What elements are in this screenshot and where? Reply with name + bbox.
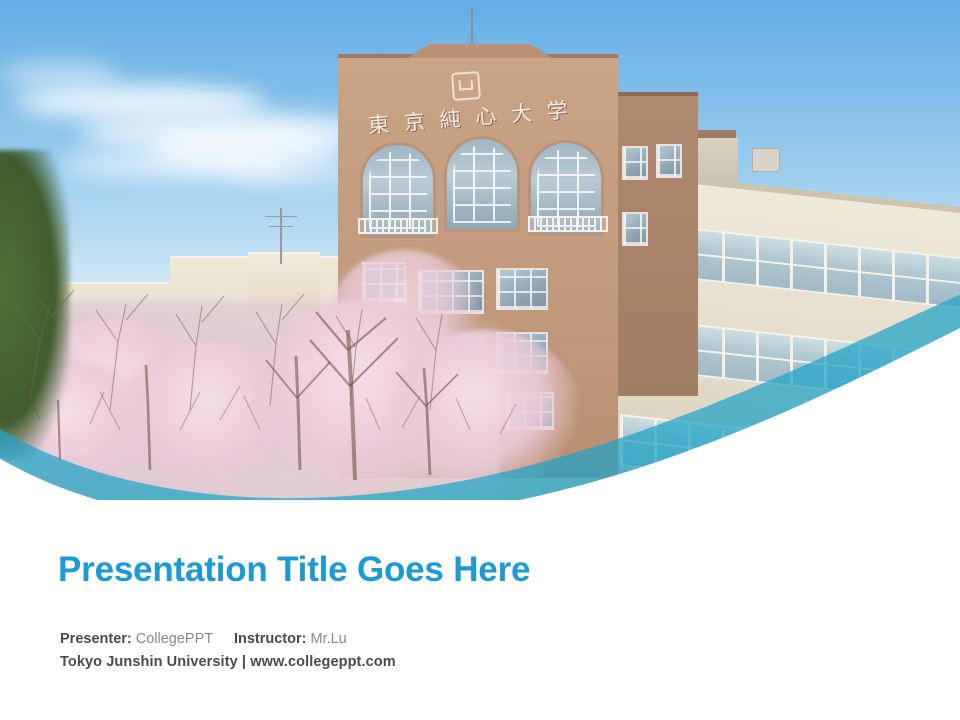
presenter-line: Presenter: CollegePPT Instructor: Mr.Lu [60, 628, 396, 651]
presentation-slide: 東 京 純 心 大 学 [0, 0, 960, 720]
bare-branches [0, 270, 500, 470]
website-link[interactable]: www.collegeppt.com [250, 654, 395, 670]
presenter-value: CollegePPT [136, 631, 213, 647]
presenter-label: Presenter: [60, 631, 132, 647]
title-panel: Presentation Title Goes Here Presenter: … [0, 500, 960, 720]
presenter-info: Presenter: CollegePPT Instructor: Mr.Lu … [60, 628, 396, 674]
university-name: Tokyo Junshin University [60, 654, 238, 670]
instructor-label: Instructor: [234, 631, 307, 647]
organization-line: Tokyo Junshin University | www.collegepp… [60, 651, 396, 674]
separator: | [242, 654, 246, 670]
page-title: Presentation Title Goes Here [58, 550, 530, 590]
campus-photo: 東 京 純 心 大 学 [0, 0, 960, 500]
instructor-value: Mr.Lu [310, 631, 346, 647]
